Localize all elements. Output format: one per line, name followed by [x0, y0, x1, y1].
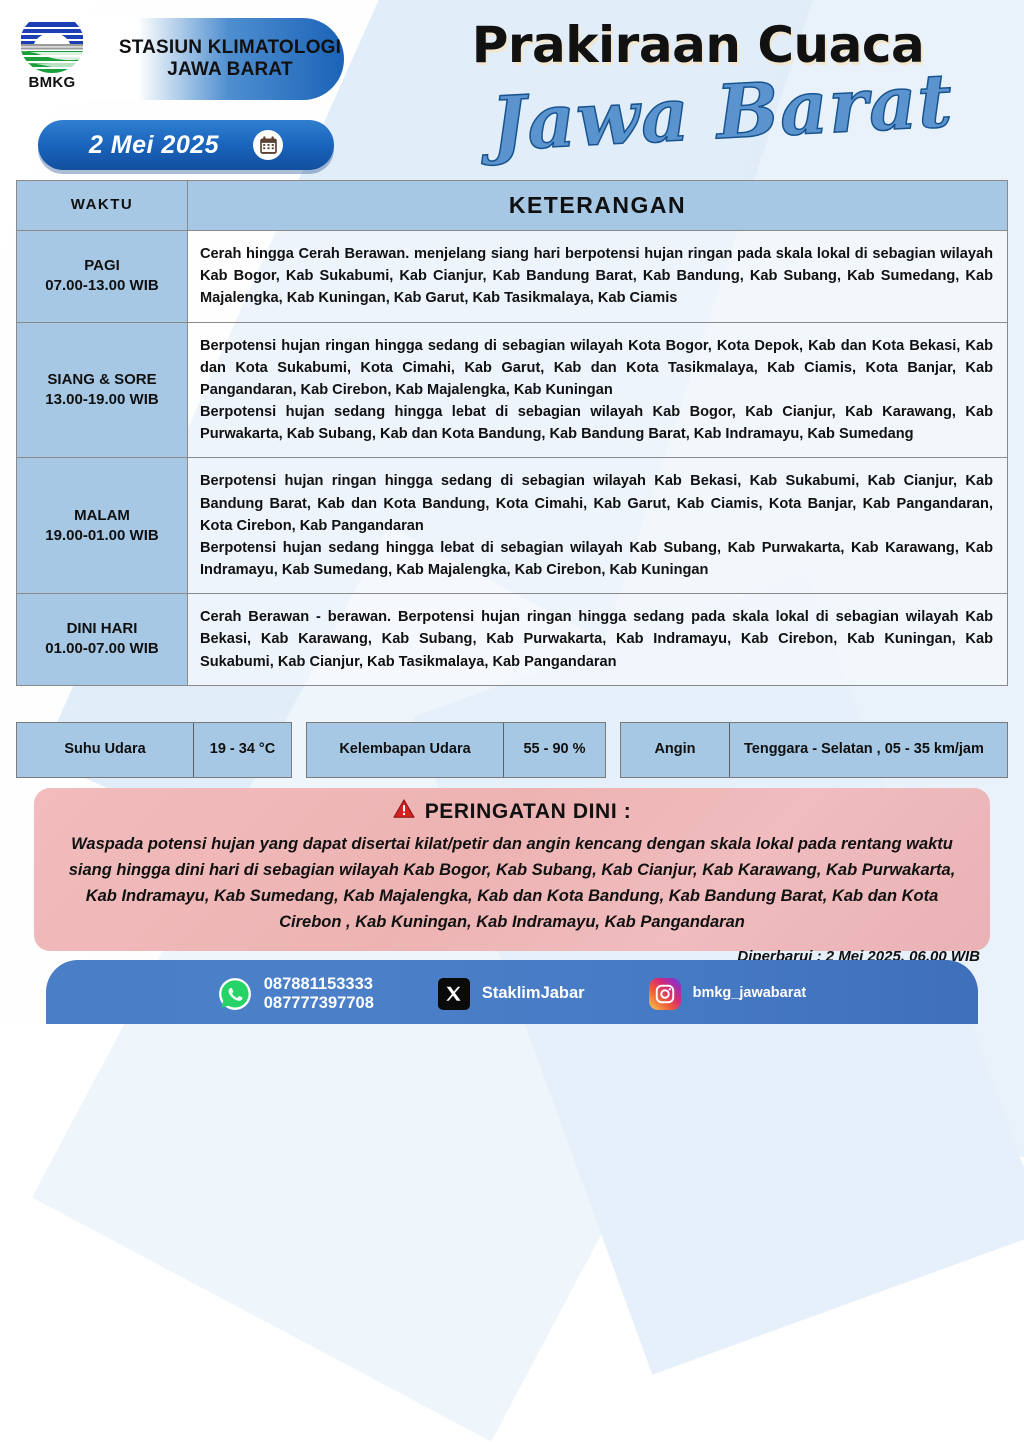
cell-time-period: DINI HARI01.00-07.00 WIB [17, 594, 188, 686]
description-paragraph: Berpotensi hujan sedang hingga lebat di … [200, 537, 993, 581]
early-warning-box: PERINGATAN DINI : Waspada potensi hujan … [34, 788, 990, 951]
stat-humidity-value: 55 - 90 % [504, 723, 605, 777]
weather-stats-row: Suhu Udara 19 - 34 °C Kelembapan Udara 5… [16, 722, 1008, 778]
cell-time-period: SIANG & SORE13.00-19.00 WIB [17, 322, 188, 458]
contact-twitter-x[interactable]: StaklimJabar [438, 978, 585, 1010]
instagram-icon [649, 978, 681, 1010]
cell-description: Berpotensi hujan ringan hingga sedang di… [188, 322, 1008, 458]
whatsapp-icon [218, 977, 252, 1011]
instagram-handle: bmkg_jawabarat [693, 985, 807, 1002]
date-text: 2 Mei 2025 [89, 131, 219, 160]
poster-content: STASIUN KLIMATOLOGI JAWA BARAT [0, 0, 1024, 1024]
table-row: PAGI07.00-13.00 WIBCerah hingga Cerah Be… [17, 231, 1008, 323]
bmkg-logo: BMKG [14, 12, 90, 100]
cell-description: Cerah Berawan - berawan. Berpotensi huja… [188, 594, 1008, 686]
table-header-row: WAKTU KETERANGAN [17, 181, 1008, 231]
period-hours: 07.00-13.00 WIB [21, 276, 183, 296]
period-hours: 19.00-01.00 WIB [21, 526, 183, 546]
stat-humidity: Kelembapan Udara 55 - 90 % [306, 722, 606, 778]
contact-whatsapp[interactable]: 087881153333 087777397708 [218, 975, 374, 1014]
whatsapp-numbers: 087881153333 087777397708 [264, 975, 374, 1014]
description-paragraph: Cerah Berawan - berawan. Berpotensi huja… [200, 606, 993, 673]
stat-temperature-value: 19 - 34 °C [194, 723, 291, 777]
stat-humidity-label: Kelembapan Udara [307, 723, 504, 777]
calendar-icon [253, 130, 283, 160]
cell-description: Berpotensi hujan ringan hingga sedang di… [188, 458, 1008, 594]
stat-wind-value: Tenggara - Selatan , 05 - 35 km/jam [730, 723, 1007, 777]
period-name: DINI HARI [21, 619, 183, 639]
period-name: PAGI [21, 256, 183, 276]
early-warning-title-row: PERINGATAN DINI : [60, 798, 964, 825]
column-header-waktu: WAKTU [17, 181, 188, 231]
table-row: DINI HARI01.00-07.00 WIBCerah Berawan - … [17, 594, 1008, 686]
early-warning-title: PERINGATAN DINI : [425, 800, 632, 824]
stat-wind-label: Angin [621, 723, 730, 777]
period-hours: 01.00-07.00 WIB [21, 639, 183, 659]
cell-time-period: PAGI07.00-13.00 WIB [17, 231, 188, 323]
station-name: STASIUN KLIMATOLOGI JAWA BARAT [104, 37, 356, 81]
table-row: MALAM19.00-01.00 WIBBerpotensi hujan rin… [17, 458, 1008, 594]
period-name: SIANG & SORE [21, 370, 183, 390]
column-header-keterangan: KETERANGAN [188, 181, 1008, 231]
contact-instagram[interactable]: bmkg_jawabarat [649, 978, 807, 1010]
forecast-table-body: PAGI07.00-13.00 WIBCerah hingga Cerah Be… [17, 231, 1008, 686]
description-paragraph: Berpotensi hujan ringan hingga sedang di… [200, 335, 993, 402]
description-paragraph: Cerah hingga Cerah Berawan. menjelang si… [200, 243, 993, 310]
stat-wind: Angin Tenggara - Selatan , 05 - 35 km/ja… [620, 722, 1008, 778]
cell-description: Cerah hingga Cerah Berawan. menjelang si… [188, 231, 1008, 323]
table-row: SIANG & SORE13.00-19.00 WIBBerpotensi hu… [17, 322, 1008, 458]
warning-triangle-icon [393, 798, 415, 825]
description-paragraph: Berpotensi hujan ringan hingga sedang di… [200, 470, 993, 537]
early-warning-body: Waspada potensi hujan yang dapat diserta… [60, 831, 964, 935]
bmkg-logo-mark [19, 12, 85, 74]
stat-temperature-label: Suhu Udara [17, 723, 194, 777]
period-name: MALAM [21, 506, 183, 526]
forecast-table: WAKTU KETERANGAN PAGI07.00-13.00 WIBCera… [16, 180, 1008, 686]
footer-contact-bar: 087881153333 087777397708 StaklimJabar b… [46, 960, 978, 1024]
stat-temperature: Suhu Udara 19 - 34 °C [16, 722, 292, 778]
x-twitter-icon [438, 978, 470, 1010]
period-hours: 13.00-19.00 WIB [21, 390, 183, 410]
date-badge[interactable]: 2 Mei 2025 [38, 120, 334, 170]
twitter-handle: StaklimJabar [482, 984, 585, 1003]
description-paragraph: Berpotensi hujan sedang hingga lebat di … [200, 401, 993, 445]
bmkg-logo-label: BMKG [28, 74, 75, 91]
cell-time-period: MALAM19.00-01.00 WIB [17, 458, 188, 594]
